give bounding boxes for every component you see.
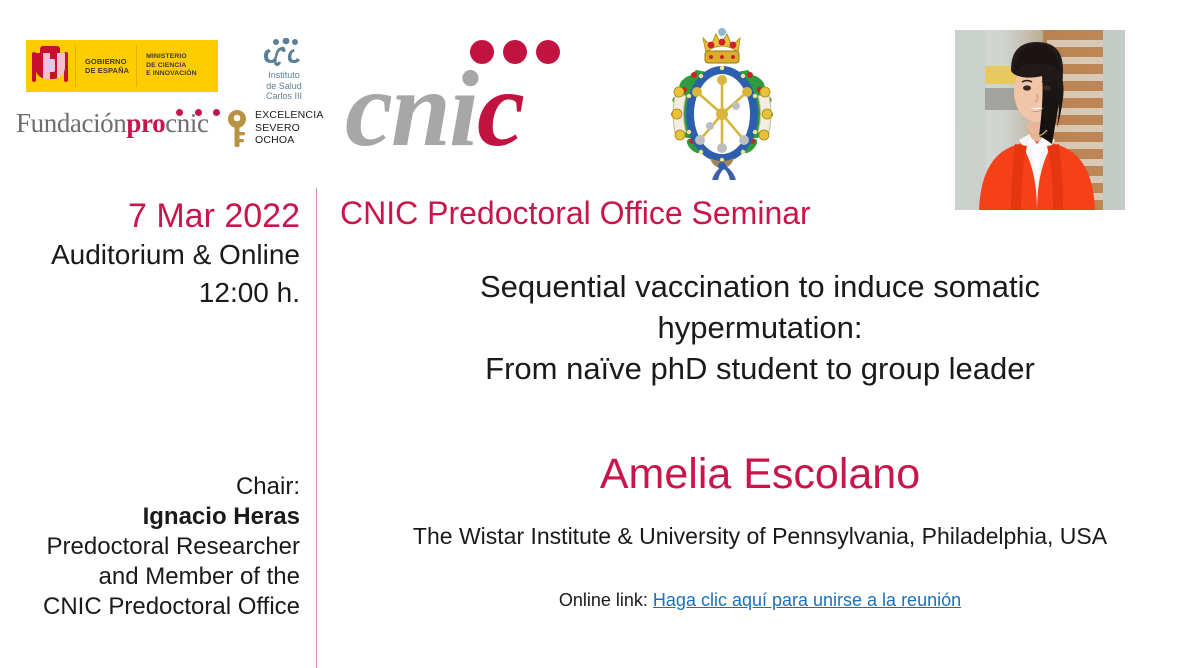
join-meeting-link[interactable]: Haga clic aquí para unirse a la reunión [653, 590, 961, 610]
spanish-coat-of-arms-icon [32, 46, 68, 86]
online-link-row: Online link: Haga clic aquí para unirse … [330, 588, 1190, 612]
pro-word: pro [126, 108, 165, 138]
isciii-mark-icon [256, 38, 312, 68]
event-details-column: 7 Mar 2022 Auditorium & Online 12:00 h. [0, 188, 300, 312]
cnic-wordmark-grey: cni [345, 50, 477, 169]
event-venue: Auditorium & Online [0, 236, 300, 274]
gobierno-de-espana-logo: GOBIERNO DE ESPAÑA MINISTERIO DE CIENCIA… [26, 40, 218, 92]
gobierno-label: GOBIERNO DE ESPAÑA [85, 57, 129, 76]
talk-title-line-1: Sequential vaccination to induce somatic [330, 266, 1190, 307]
real-academia-de-ciencias-crest [648, 22, 796, 182]
cnic-wordmark-red: c [477, 50, 523, 169]
cnic-wordmark: cnic [345, 56, 523, 164]
fundacion-pro-cnic-logo: Fundaciónprocnic [16, 108, 209, 142]
key-icon [224, 108, 250, 148]
cnic-logo: cnic [345, 30, 615, 165]
event-date: 7 Mar 2022 [0, 188, 300, 236]
chair-name: Ignacio Heras [0, 502, 300, 532]
speaker-photo [955, 30, 1125, 210]
logo-divider [75, 45, 76, 87]
fundacion-word: Fundación [16, 108, 126, 138]
instituto-de-salud-carlos-iii-logo: Instituto de Salud Carlos III [244, 38, 324, 102]
chair-role-line-3: CNIC Predoctoral Office [0, 592, 300, 622]
talk-title-line-2: hypermutation: [330, 307, 1190, 348]
chair-role-line-1: Predoctoral Researcher [0, 532, 300, 562]
logo-bar: GOBIERNO DE ESPAÑA MINISTERIO DE CIENCIA… [0, 0, 1200, 190]
excelencia-severo-ochoa-logo: EXCELENCIA SEVERO OCHOA [224, 108, 324, 148]
talk-title: Sequential vaccination to induce somatic… [330, 266, 1190, 389]
fundacion-dots-icon [176, 109, 220, 116]
event-time: 12:00 h. [0, 274, 300, 312]
seminar-series-title: CNIC Predoctoral Office Seminar [340, 192, 811, 234]
ministerio-label: MINISTERIO DE CIENCIA E INNOVACIÓN [146, 53, 197, 79]
online-link-label: Online link: [559, 590, 648, 610]
column-divider [316, 188, 317, 668]
logo-divider-2 [136, 45, 137, 87]
chair-label: Chair: [0, 472, 300, 502]
chair-role-line-2: and Member of the [0, 562, 300, 592]
speaker-affiliation: The Wistar Institute & University of Pen… [330, 521, 1190, 551]
speaker-name: Amelia Escolano [330, 448, 1190, 500]
severo-ochoa-label: EXCELENCIA SEVERO OCHOA [255, 109, 324, 147]
isciii-label: Instituto de Salud Carlos III [244, 70, 324, 102]
chair-block: Chair: Ignacio Heras Predoctoral Researc… [0, 472, 300, 622]
talk-title-line-3: From naïve phD student to group leader [330, 348, 1190, 389]
